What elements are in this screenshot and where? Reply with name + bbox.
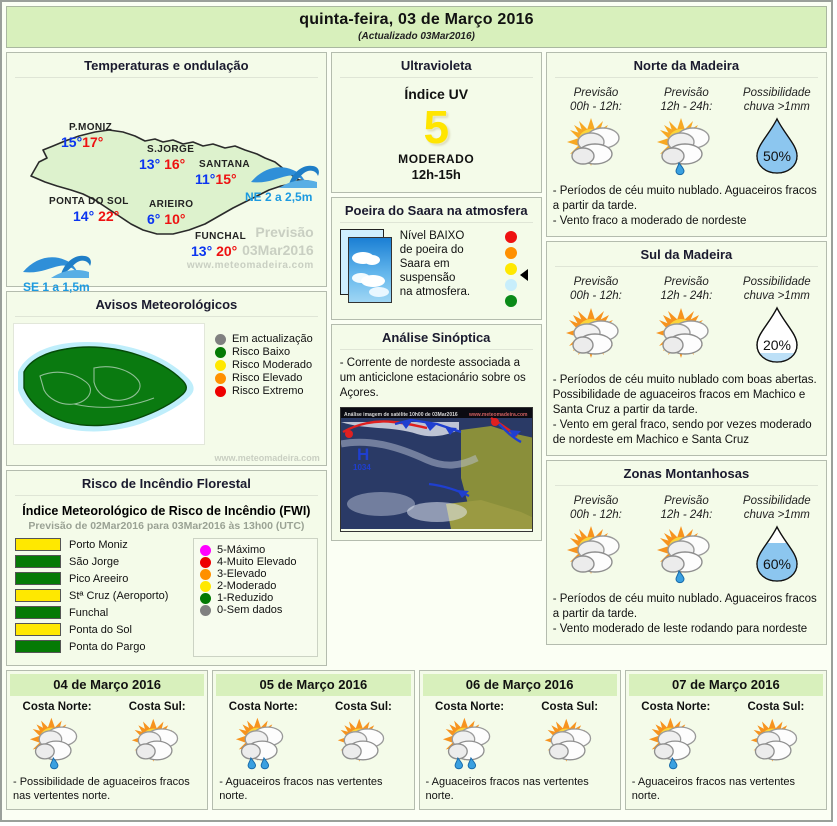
legend-item: 3-Elevado <box>200 568 313 580</box>
watermark-forecast: Previsão <box>255 224 313 240</box>
legend-item: Em actualização <box>215 333 320 345</box>
legend-item: Risco Extremo <box>215 385 320 397</box>
weather-icon-sun-clouds <box>551 303 641 367</box>
forecast-afternoon: Previsão 12h - 24h: <box>641 275 731 367</box>
fwi-station-row: Stª Cruz (Aeroporto) <box>15 589 187 602</box>
forecast-head-line: Previsão <box>641 86 731 100</box>
region-description: - Períodos de céu muito nublado. Aguacei… <box>547 590 826 644</box>
risk-swatch <box>15 606 61 619</box>
fwi-station-row: Porto Moniz <box>15 538 187 551</box>
pressure-marker: H <box>357 445 369 464</box>
forecast-day-date: 05 de Março 2016 <box>216 674 410 696</box>
fwi-index-title: Índice Meteorológico de Risco de Incêndi… <box>7 502 326 520</box>
dust-level-scale <box>501 229 535 311</box>
forecast-morning: Previsão 00h - 12h: <box>551 86 641 178</box>
legend-label: 4-Muito Elevado <box>217 556 297 568</box>
forecast-head-line: 12h - 24h: <box>641 100 731 114</box>
station-name-ponta-do-sol: PONTA DO SOL <box>49 196 129 207</box>
forecast-head-line: chuva >1mm <box>732 508 822 522</box>
dust-title: Poeira do Saara na atmosfera <box>332 198 541 222</box>
coast-label: Costa Norte: <box>213 699 313 713</box>
uv-title: Ultravioleta <box>332 53 541 77</box>
day-south-coast: Costa Sul: <box>726 699 826 773</box>
status-dot <box>200 545 211 556</box>
status-dot <box>215 347 226 358</box>
region-description: - Períodos de céu muito nublado. Aguacei… <box>547 182 826 236</box>
rain-probability-value: 60% <box>763 556 791 572</box>
day-north-coast: Costa Norte: <box>420 699 520 773</box>
station-name-s-jorge: S.JORGE <box>147 144 194 155</box>
divider <box>15 316 318 317</box>
weather-icon-sun-clouds <box>726 713 826 773</box>
legend-label: 0-Sem dados <box>217 604 282 616</box>
forecast-head-line: chuva >1mm <box>732 289 822 303</box>
forecast-head-line: 00h - 12h: <box>551 289 641 303</box>
synoptic-text: - Corrente de nordeste associada a um an… <box>332 356 541 407</box>
region-title: Zonas Montanhosas <box>547 461 826 485</box>
station-name-arieiro: ARIEIRO <box>149 199 193 210</box>
forecast-head-line: 12h - 24h: <box>641 508 731 522</box>
satellite-image: H 1034 Análise imagem de satélite 10h00 … <box>340 407 533 532</box>
coast-label: Costa Sul: <box>313 699 413 713</box>
divider <box>15 77 318 78</box>
forecast-head-line: Previsão <box>641 494 731 508</box>
status-dot <box>215 360 226 371</box>
station-name-funchal: FUNCHAL <box>195 231 246 242</box>
legend-item: 0-Sem dados <box>200 604 313 616</box>
station-temps-funchal: 13° 20° <box>191 243 237 259</box>
forecast-afternoon: Previsão 12h - 24h: <box>641 494 731 586</box>
temperatures-panel: Temperaturas e ondulação <box>6 52 327 287</box>
day-south-coast: Costa Sul: <box>107 699 207 773</box>
legend-label: Risco Baixo <box>232 346 290 358</box>
forecast-head-line: 00h - 12h: <box>551 508 641 522</box>
forecast-day-date: 06 de Março 2016 <box>423 674 617 696</box>
watermark-date: 03Mar2016 <box>242 242 314 258</box>
fire-risk-title: Risco de Incêndio Florestal <box>7 471 326 495</box>
weather-icon-sun-clouds <box>520 713 620 773</box>
uv-time-range: 12h-15h <box>332 167 541 182</box>
divider <box>555 266 818 267</box>
dust-photo <box>340 229 392 305</box>
region-panel-norte: Norte da Madeira Previsão 00h - 12h: <box>546 52 827 237</box>
weather-icon-sun-clouds-rain <box>7 713 107 773</box>
risk-swatch <box>15 640 61 653</box>
swell-icon-ne <box>249 158 321 192</box>
warnings-panel: Avisos Meteorológicos <box>6 291 327 466</box>
dust-text-line: de poeira do <box>400 243 493 257</box>
fwi-station-row: Pico Areeiro <box>15 572 187 585</box>
uv-category: MODERADO <box>332 152 541 166</box>
forecast-day-description: - Possibilidade de aguaceiros fracos nas… <box>7 773 207 809</box>
weather-icon-sun-clouds-rain <box>641 114 731 178</box>
temperature-map: P.MONIZ 15°17° S.JORGE 13° 16° SANTANA 1… <box>13 84 320 280</box>
forecast-day-card: 05 de Março 2016 Costa Norte: <box>212 670 414 810</box>
fwi-station-row: Ponta do Pargo <box>15 640 187 653</box>
saharan-dust-panel: Poeira do Saara na atmosfera <box>331 197 542 320</box>
weather-dashboard: quinta-feira, 03 de Março 2016 (Actualiz… <box>0 0 833 822</box>
divider <box>15 495 318 496</box>
status-dot <box>200 605 211 616</box>
dust-level-pointer-icon <box>520 269 528 281</box>
weather-icon-sun-clouds-rain <box>626 713 726 773</box>
coast-label: Costa Norte: <box>420 699 520 713</box>
fwi-station-row: São Jorge <box>15 555 187 568</box>
rain-probability-value: 50% <box>763 148 791 164</box>
forecast-day-description: - Aguaceiros fracos nas vertentes norte. <box>626 773 826 809</box>
dust-level-dot <box>505 263 517 275</box>
legend-item: Risco Elevado <box>215 372 320 384</box>
pressure-value: 1034 <box>353 463 371 472</box>
last-updated: (Actualizado 03Mar2016) <box>7 31 826 42</box>
dust-text-line: suspensão <box>400 271 493 285</box>
day-south-coast: Costa Sul: <box>520 699 620 773</box>
uv-panel: Ultravioleta Índice UV 5 MODERADO 12h-15… <box>331 52 542 193</box>
station-name-p-moniz: P.MONIZ <box>69 122 112 133</box>
legend-label: 3-Elevado <box>217 568 267 580</box>
forecast-afternoon: Previsão 12h - 24h: <box>641 86 731 178</box>
legend-label: Em actualização <box>232 333 313 345</box>
station-temps-ponta-do-sol: 14° 22° <box>73 208 119 224</box>
divider <box>340 349 533 350</box>
divider <box>340 222 533 223</box>
rain-probability-value: 20% <box>763 337 791 353</box>
forecast-head-line: chuva >1mm <box>732 100 822 114</box>
legend-label: 1-Reduzido <box>217 592 273 604</box>
forecast-day-card: 06 de Março 2016 Costa Norte: <box>419 670 621 810</box>
region-title: Norte da Madeira <box>547 53 826 77</box>
raindrop-icon: 60% <box>732 522 822 586</box>
page-header: quinta-feira, 03 de Março 2016 (Actualiz… <box>6 6 827 48</box>
station-temps-s-jorge: 13° 16° <box>139 156 185 172</box>
status-dot <box>200 593 211 604</box>
forecast-head-line: Previsão <box>551 494 641 508</box>
status-dot <box>215 373 226 384</box>
weather-icon-sun-clouds <box>107 713 207 773</box>
swell-icon-se <box>21 248 93 282</box>
forecast-day-card: 04 de Março 2016 Costa Norte: <box>6 670 208 810</box>
warnings-title: Avisos Meteorológicos <box>7 292 326 316</box>
fwi-station-label: Porto Moniz <box>69 539 128 551</box>
coast-label: Costa Norte: <box>7 699 107 713</box>
forecast-day-date: 04 de Março 2016 <box>10 674 204 696</box>
raindrop-icon: 20% <box>732 303 822 367</box>
risk-swatch <box>15 589 61 602</box>
coast-label: Costa Sul: <box>520 699 620 713</box>
forecast-head-line: Possibilidade <box>732 275 822 289</box>
warnings-legend: Em actualização Risco Baixo Risco Modera… <box>205 323 320 445</box>
fwi-scale-legend: 5-Máximo 4-Muito Elevado 3-Elevado <box>193 538 318 657</box>
day-north-coast: Costa Norte: <box>626 699 726 773</box>
divider <box>555 77 818 78</box>
weather-icon-sun-clouds-rain <box>213 713 313 773</box>
rain-probability: Possibilidade chuva >1mm 50% <box>732 86 822 178</box>
status-dot <box>215 386 226 397</box>
forecast-day-date: 07 de Março 2016 <box>629 674 823 696</box>
risk-swatch <box>15 555 61 568</box>
dust-level-dot <box>505 247 517 259</box>
status-dot <box>200 557 211 568</box>
dust-text-line: Saara em <box>400 257 493 271</box>
multi-day-forecast: 04 de Março 2016 Costa Norte: <box>6 670 827 810</box>
coast-label: Costa Sul: <box>726 699 826 713</box>
weather-icon-sun-clouds <box>551 522 641 586</box>
raindrop-icon: 50% <box>732 114 822 178</box>
legend-item: 4-Muito Elevado <box>200 556 313 568</box>
forecast-morning: Previsão 00h - 12h: <box>551 275 641 367</box>
forecast-head-line: 00h - 12h: <box>551 100 641 114</box>
status-dot <box>215 334 226 345</box>
fwi-station-label: Stª Cruz (Aeroporto) <box>69 590 168 602</box>
station-temps-santana: 11°15° <box>195 171 237 187</box>
warnings-credit: www.meteomadeira.com <box>7 451 326 465</box>
forecast-head-line: Previsão <box>551 275 641 289</box>
svg-text:Análise imagem de satélite 10: Análise imagem de satélite 10h00 de 03Ma… <box>344 412 458 418</box>
fwi-station-label: Ponta do Sol <box>69 624 132 636</box>
legend-label: 5-Máximo <box>217 544 265 556</box>
day-north-coast: Costa Norte: <box>213 699 313 773</box>
region-panel-sul: Sul da Madeira Previsão 00h - 12h: <box>546 241 827 456</box>
forecast-day-card: 07 de Março 2016 Costa Norte: <box>625 670 827 810</box>
coast-label: Costa Norte: <box>626 699 726 713</box>
legend-item: 1-Reduzido <box>200 592 313 604</box>
forecast-morning: Previsão 00h - 12h: <box>551 494 641 586</box>
legend-label: Risco Extremo <box>232 385 304 397</box>
fwi-station-list: Porto Moniz São Jorge Pico Areeiro <box>15 538 187 657</box>
divider <box>555 485 818 486</box>
uv-index-label: Índice UV <box>332 86 541 102</box>
page-title: quinta-feira, 03 de Março 2016 <box>7 11 826 29</box>
divider <box>340 77 533 78</box>
region-description: - Períodos de céu muito nublado com boas… <box>547 371 826 455</box>
fwi-station-label: Ponta do Pargo <box>69 641 145 653</box>
fwi-station-label: Pico Areeiro <box>69 573 128 585</box>
fire-risk-panel: Risco de Incêndio Florestal Índice Meteo… <box>6 470 327 666</box>
region-title: Sul da Madeira <box>547 242 826 266</box>
risk-swatch <box>15 572 61 585</box>
dust-level-dot <box>505 231 517 243</box>
forecast-day-description: - Aguaceiros fracos nas vertentes norte. <box>420 773 620 809</box>
svg-text:www.meteomadeira.com: www.meteomadeira.com <box>468 412 528 418</box>
station-name-santana: SANTANA <box>199 159 250 170</box>
day-north-coast: Costa Norte: <box>7 699 107 773</box>
synoptic-panel: Análise Sinóptica - Corrente de nordeste… <box>331 324 542 541</box>
fwi-station-row: Ponta do Sol <box>15 623 187 636</box>
swell-label-se: SE 1 a 1,5m <box>23 280 90 294</box>
temperatures-title: Temperaturas e ondulação <box>7 53 326 77</box>
rain-probability: Possibilidade chuva >1mm 20% <box>732 275 822 367</box>
weather-icon-sun-clouds-rain <box>641 522 731 586</box>
legend-label: 2-Moderado <box>217 580 276 592</box>
station-temps-arieiro: 6° 10° <box>147 211 185 227</box>
forecast-head-line: 12h - 24h: <box>641 289 731 303</box>
forecast-head-line: Previsão <box>641 275 731 289</box>
fwi-station-label: Funchal <box>69 607 108 619</box>
risk-swatch <box>15 623 61 636</box>
watermark-site: www.meteomadeira.com <box>187 260 314 271</box>
legend-label: Risco Moderado <box>232 359 312 371</box>
forecast-head-line: Possibilidade <box>732 86 822 100</box>
dust-level-dot <box>505 295 517 307</box>
day-south-coast: Costa Sul: <box>313 699 413 773</box>
coast-label: Costa Sul: <box>107 699 207 713</box>
dust-text-line: Nível BAIXO <box>400 229 493 243</box>
weather-icon-sun-clouds <box>551 114 641 178</box>
legend-item: 2-Moderado <box>200 580 313 592</box>
region-panel-montanhosas: Zonas Montanhosas Previsão 00h - 12h: <box>546 460 827 645</box>
weather-icon-sun-clouds-rain <box>420 713 520 773</box>
fwi-station-label: São Jorge <box>69 556 119 568</box>
dust-level-dot-selected <box>505 279 517 291</box>
dust-text-line: na atmosfera. <box>400 285 493 299</box>
synoptic-title: Análise Sinóptica <box>332 325 541 349</box>
legend-item: 5-Máximo <box>200 544 313 556</box>
status-dot <box>200 581 211 592</box>
status-dot <box>200 569 211 580</box>
legend-item: Risco Baixo <box>215 346 320 358</box>
forecast-head-line: Previsão <box>551 86 641 100</box>
forecast-day-description: - Aguaceiros fracos nas vertentes norte. <box>213 773 413 809</box>
legend-item: Risco Moderado <box>215 359 320 371</box>
swell-label-ne: NE 2 a 2,5m <box>245 190 312 204</box>
uv-index-value: 5 <box>332 104 541 150</box>
fwi-station-row: Funchal <box>15 606 187 619</box>
weather-icon-sun-clouds <box>313 713 413 773</box>
forecast-head-line: Possibilidade <box>732 494 822 508</box>
weather-icon-sun-clouds <box>641 303 731 367</box>
fwi-subtitle: Previsão de 02Mar2016 para 03Mar2016 às … <box>7 520 326 538</box>
risk-swatch <box>15 538 61 551</box>
warnings-map <box>13 323 205 445</box>
dust-text: Nível BAIXO de poeira do Saara em suspen… <box>400 229 493 299</box>
station-temps-p-moniz: 15°17° <box>61 134 103 150</box>
legend-label: Risco Elevado <box>232 372 302 384</box>
rain-probability: Possibilidade chuva >1mm 60% <box>732 494 822 586</box>
